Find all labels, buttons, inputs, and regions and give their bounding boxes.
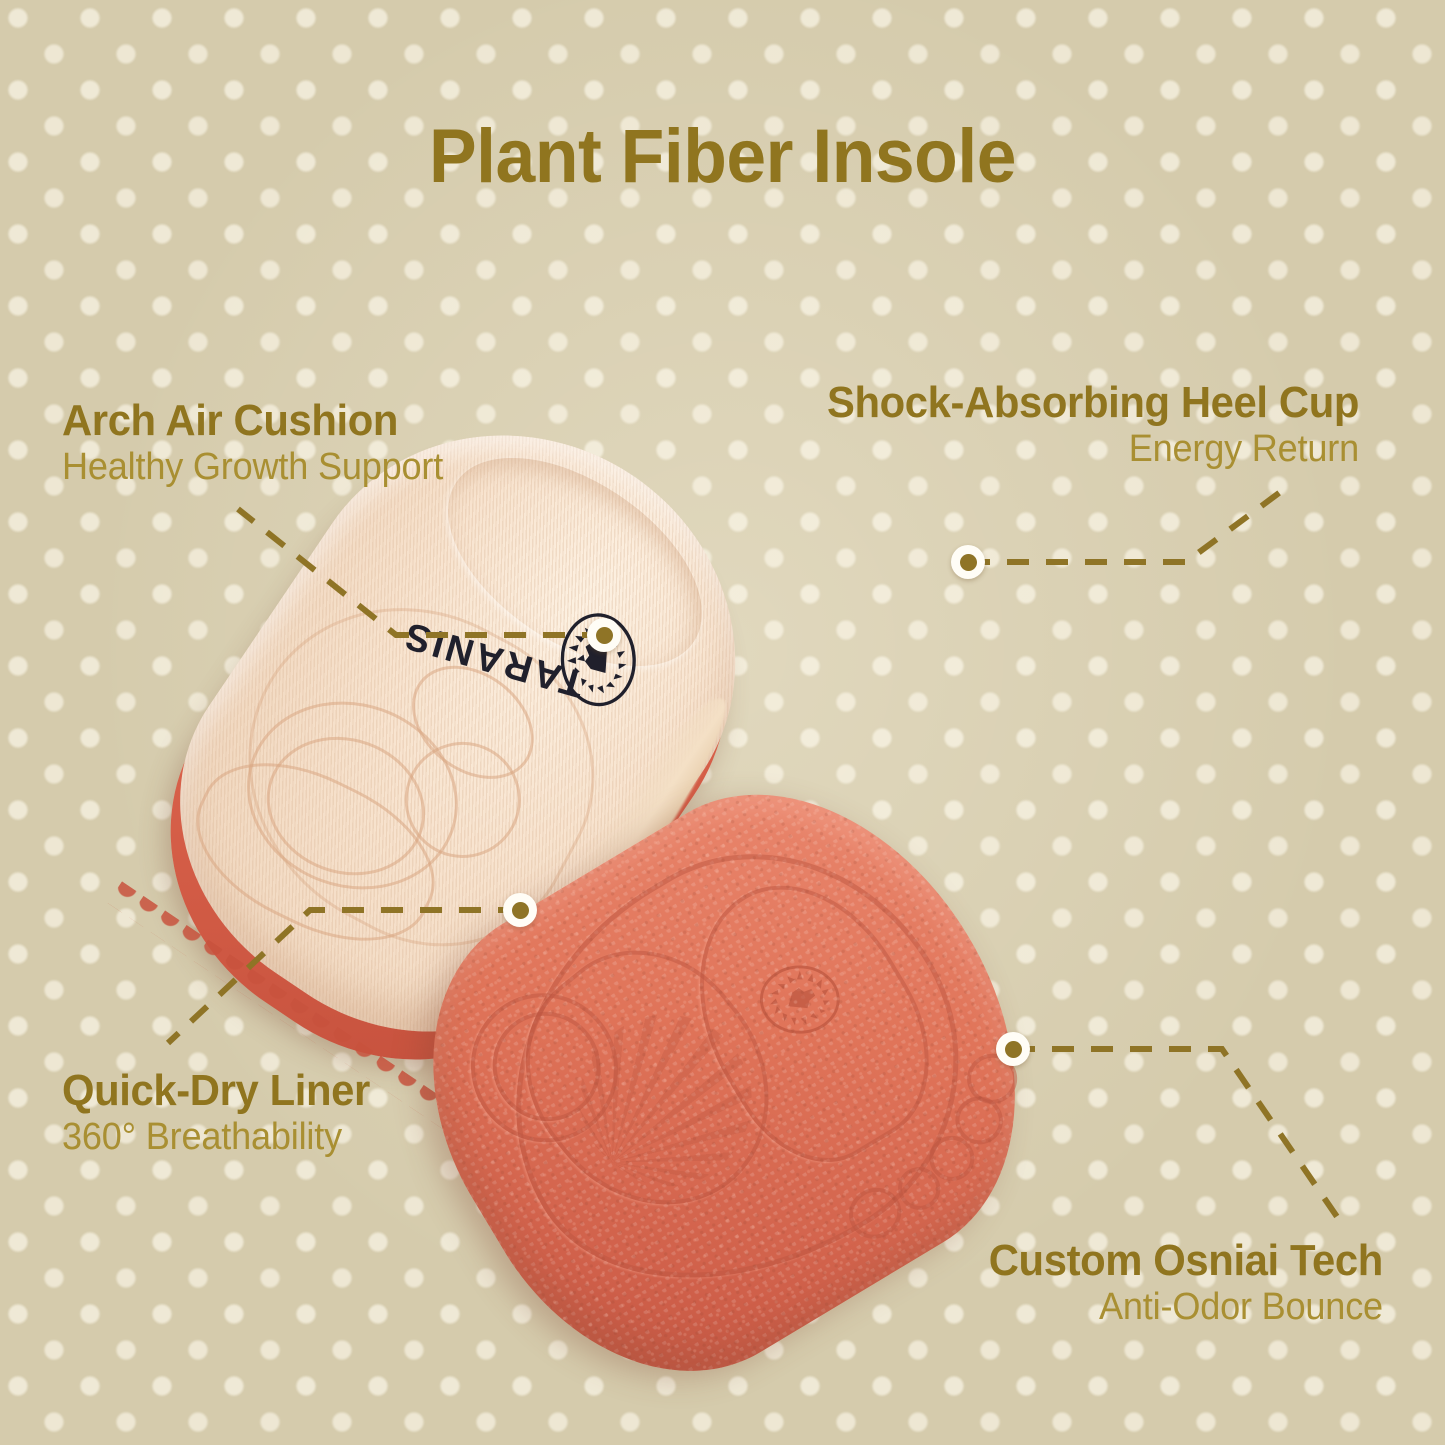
callout-subtitle: 360° Breathability: [62, 1116, 370, 1159]
leader-line-custom-osniai-tech: [1013, 1049, 1342, 1224]
marker-dot-core: [960, 554, 977, 571]
callout-title: Custom Osniai Tech: [989, 1238, 1383, 1283]
callout-subtitle: Healthy Growth Support: [62, 446, 443, 489]
marker-dot-core: [512, 902, 529, 919]
marker-dot-core: [596, 627, 613, 644]
marker-dot-core: [1005, 1041, 1022, 1058]
callout-shock-absorbing-heel-cup: Shock-Absorbing Heel Cup Energy Return: [799, 380, 1359, 471]
marker-dot-quick-dry-liner[interactable]: [503, 893, 537, 927]
callout-arch-air-cushion: Arch Air Cushion Healthy Growth Support: [62, 398, 463, 489]
callout-quick-dry-liner: Quick-Dry Liner 360° Breathability: [62, 1068, 386, 1159]
callout-subtitle: Energy Return: [827, 428, 1359, 471]
callout-leader-lines: [0, 0, 1445, 1445]
leader-line-arch-air-cushion: [238, 509, 604, 635]
marker-dot-custom-osniai-tech[interactable]: [996, 1032, 1030, 1066]
leader-line-shock-absorbing-heel-cup: [968, 490, 1283, 562]
callout-subtitle: Anti-Odor Bounce: [989, 1286, 1383, 1329]
callout-title: Shock-Absorbing Heel Cup: [827, 380, 1359, 425]
callout-title: Quick-Dry Liner: [62, 1068, 370, 1113]
marker-dot-arch-air-cushion[interactable]: [587, 618, 621, 652]
leader-line-quick-dry-liner: [168, 910, 520, 1043]
marker-dot-shock-absorbing-heel-cup[interactable]: [951, 545, 985, 579]
callout-title: Arch Air Cushion: [62, 398, 443, 443]
callout-custom-osniai-tech: Custom Osniai Tech Anti-Odor Bounce: [968, 1238, 1383, 1329]
